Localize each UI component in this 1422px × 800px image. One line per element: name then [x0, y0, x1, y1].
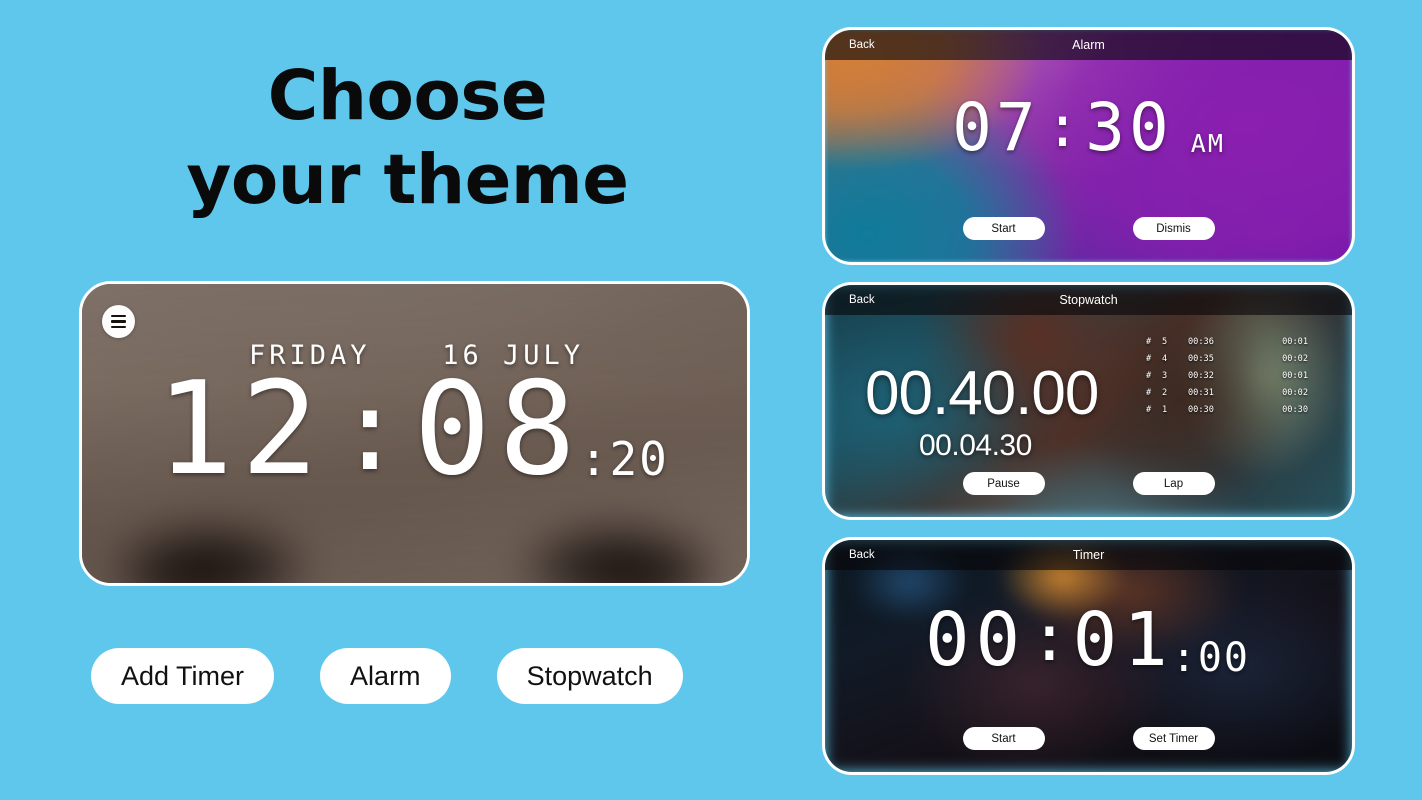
timer-topbar: Back Timer [825, 540, 1352, 570]
lap-split: 00:02 [1252, 354, 1308, 364]
lap-row: # 5 00:36 00:01 [1146, 333, 1336, 350]
timer-button-row: Start Set Timer [825, 727, 1352, 750]
clock-hours: 12 [156, 370, 326, 490]
lap-split: 00:02 [1252, 388, 1308, 398]
alarm-topbar: Back Alarm [825, 30, 1352, 60]
alarm-colon: : [1040, 97, 1086, 159]
lap-number: 3 [1162, 371, 1188, 381]
menu-bar-3 [111, 326, 126, 329]
lap-split: 00:01 [1252, 337, 1308, 347]
lap-split: 00:01 [1252, 371, 1308, 381]
alarm-minutes: 30 [1085, 96, 1172, 160]
lap-total: 00:35 [1188, 354, 1252, 364]
timer-time-display: 00 : 01 :00 [825, 604, 1352, 676]
alarm-preview-card[interactable]: Back Alarm 07 : 30 AM Start Dismis [822, 27, 1355, 265]
lap-split: 00:30 [1252, 405, 1308, 415]
lap-hash: # [1146, 388, 1162, 398]
alarm-button[interactable]: Alarm [320, 648, 451, 704]
lap-hash: # [1146, 405, 1162, 415]
stopwatch-preview-card[interactable]: Back Stopwatch 00.40.00 00.04.30 # 5 00:… [822, 282, 1355, 520]
timer-title: Timer [825, 548, 1352, 562]
clock-minutes: 08 [414, 370, 584, 490]
stopwatch-topbar: Back Stopwatch [825, 285, 1352, 315]
lap-number: 5 [1162, 337, 1188, 347]
timer-minutes: 01 [1073, 604, 1174, 676]
stopwatch-button[interactable]: Stopwatch [497, 648, 683, 704]
stopwatch-pause-button[interactable]: Pause [963, 472, 1045, 495]
stopwatch-button-row: Pause Lap [825, 472, 1352, 495]
alarm-start-button[interactable]: Start [963, 217, 1045, 240]
alarm-hours: 07 [952, 96, 1039, 160]
stopwatch-lap-time: 00.04.30 [919, 431, 1032, 461]
stopwatch-lap-table: # 5 00:36 00:01 # 4 00:35 00:02 # 3 00:3… [1146, 333, 1336, 418]
lap-row: # 3 00:32 00:01 [1146, 367, 1336, 384]
lap-total: 00:36 [1188, 337, 1252, 347]
lap-total: 00:30 [1188, 405, 1252, 415]
clock-colon: : [326, 372, 413, 490]
lap-number: 1 [1162, 405, 1188, 415]
lap-row: # 4 00:35 00:02 [1146, 350, 1336, 367]
add-timer-button[interactable]: Add Timer [91, 648, 274, 704]
page-title-line-2: your theme [0, 138, 815, 222]
lap-number: 4 [1162, 354, 1188, 364]
timer-start-button[interactable]: Start [963, 727, 1045, 750]
left-panel: Choose your theme FRIDAY 16 JULY 12 : 08… [0, 0, 800, 800]
stopwatch-main-time: 00.40.00 [865, 363, 1098, 425]
timer-hours: 00 [925, 604, 1026, 676]
lap-total: 00:32 [1188, 371, 1252, 381]
page-title: Choose your theme [0, 54, 815, 222]
timer-seconds: :00 [1172, 638, 1250, 678]
menu-bar-1 [111, 315, 126, 318]
timer-set-button[interactable]: Set Timer [1133, 727, 1215, 750]
action-button-row: Add Timer Alarm Stopwatch [91, 648, 683, 704]
page-title-line-1: Choose [0, 54, 815, 138]
alarm-meridiem: AM [1191, 131, 1225, 157]
lap-hash: # [1146, 371, 1162, 381]
alarm-dismiss-button[interactable]: Dismis [1133, 217, 1215, 240]
lap-total: 00:31 [1188, 388, 1252, 398]
clock-seconds: :20 [580, 436, 669, 482]
stopwatch-lap-button[interactable]: Lap [1133, 472, 1215, 495]
alarm-back-link[interactable]: Back [849, 39, 875, 51]
timer-colon: : [1026, 604, 1073, 674]
clock-time-row: 12 : 08 :20 [82, 370, 747, 490]
alarm-button-row: Start Dismis [825, 217, 1352, 240]
main-clock-preview-card[interactable]: FRIDAY 16 JULY 12 : 08 :20 [79, 281, 750, 586]
timer-preview-card[interactable]: Back Timer 00 : 01 :00 Start Set Timer [822, 537, 1355, 775]
lap-row: # 2 00:31 00:02 [1146, 384, 1336, 401]
lap-hash: # [1146, 337, 1162, 347]
menu-bar-2 [111, 320, 126, 323]
timer-back-link[interactable]: Back [849, 549, 875, 561]
alarm-title: Alarm [825, 38, 1352, 52]
stopwatch-back-link[interactable]: Back [849, 294, 875, 306]
lap-row: # 1 00:30 00:30 [1146, 401, 1336, 418]
hamburger-menu-icon[interactable] [102, 305, 135, 338]
lap-number: 2 [1162, 388, 1188, 398]
alarm-time-display: 07 : 30 AM [825, 96, 1352, 160]
stopwatch-title: Stopwatch [825, 293, 1352, 307]
lap-hash: # [1146, 354, 1162, 364]
